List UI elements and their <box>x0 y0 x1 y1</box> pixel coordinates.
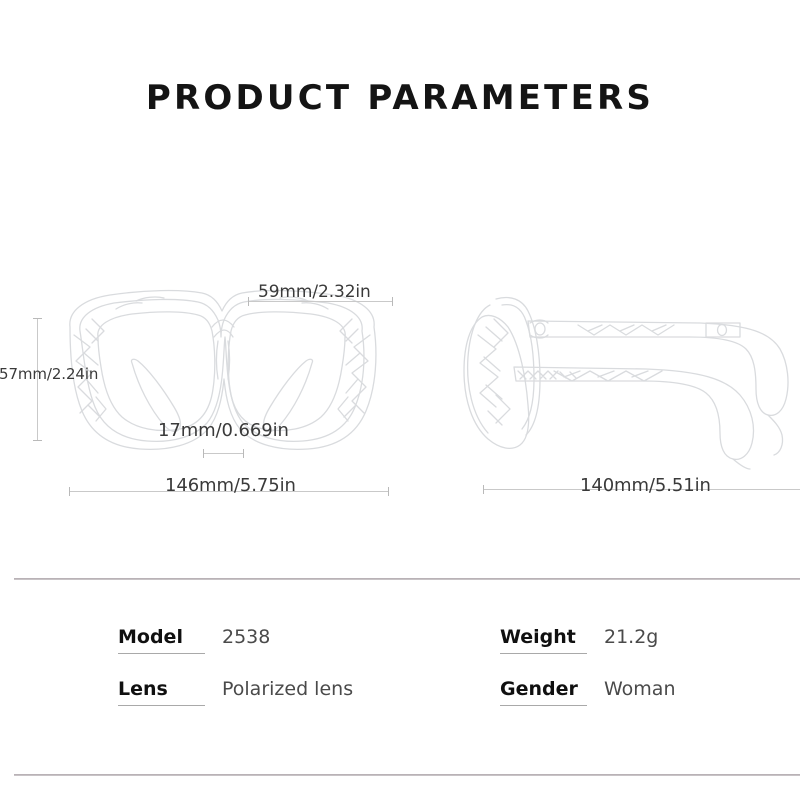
tick-start <box>203 449 204 458</box>
tick-end <box>388 487 389 496</box>
dimension-label-temple-length: 140mm/5.51in <box>580 475 711 496</box>
dimension-line-bridge-width <box>203 453 244 454</box>
spec-column-left: Model 2538 Lens Polarized lens <box>118 626 353 730</box>
spec-value-gender: Woman <box>604 678 676 700</box>
product-parameters-page: PRODUCT PARAMETERS <box>0 0 800 800</box>
spec-row-weight: Weight 21.2g <box>500 626 676 678</box>
dimension-label-bridge-width: 17mm/0.669in <box>158 420 289 441</box>
spec-label-lens: Lens <box>118 678 205 706</box>
dimension-label-lens-width: 59mm/2.32in <box>258 282 371 302</box>
spec-column-right: Weight 21.2g Gender Woman <box>500 626 676 730</box>
spec-row-lens: Lens Polarized lens <box>118 678 353 730</box>
tick-start <box>33 318 42 319</box>
divider-bottom <box>14 774 800 776</box>
dimension-label-lens-height: 57mm/2.24in <box>0 365 98 383</box>
tick-start <box>248 297 249 306</box>
tick-end <box>243 449 244 458</box>
tick-start <box>69 487 70 496</box>
eyeglasses-side-view <box>450 275 795 475</box>
spec-label-model: Model <box>118 626 205 654</box>
spec-table: Model 2538 Lens Polarized lens Weight 21… <box>0 626 800 736</box>
tick-start <box>483 485 484 494</box>
tick-end <box>392 297 393 306</box>
divider-top <box>14 578 800 580</box>
spec-value-weight: 21.2g <box>604 626 658 648</box>
spec-row-model: Model 2538 <box>118 626 353 678</box>
spec-row-gender: Gender Woman <box>500 678 676 730</box>
tick-end <box>33 440 42 441</box>
spec-label-gender: Gender <box>500 678 587 706</box>
spec-value-lens: Polarized lens <box>222 678 353 700</box>
spec-value-model: 2538 <box>222 626 270 648</box>
spec-label-weight: Weight <box>500 626 587 654</box>
page-title: PRODUCT PARAMETERS <box>0 78 800 118</box>
dimension-label-frame-width: 146mm/5.75in <box>165 475 296 496</box>
